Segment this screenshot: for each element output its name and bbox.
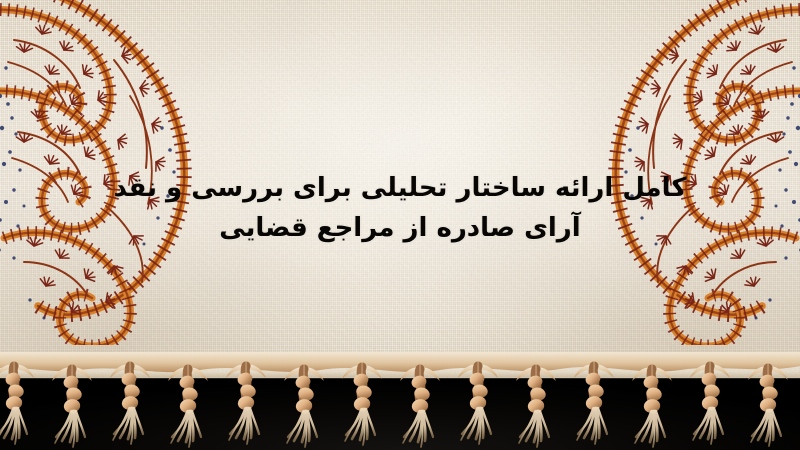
textile-banner-scene: کامل ارائه ساختار تحلیلی برای بررسی و نق… — [0, 0, 800, 450]
headline-line-2: آرای صادره از مراجع قضایی — [0, 208, 800, 248]
headline-text: کامل ارائه ساختار تحلیلی برای بررسی و نق… — [0, 168, 800, 248]
fabric-hem-edge — [0, 352, 800, 378]
headline-line-1: کامل ارائه ساختار تحلیلی برای بررسی و نق… — [0, 168, 800, 208]
